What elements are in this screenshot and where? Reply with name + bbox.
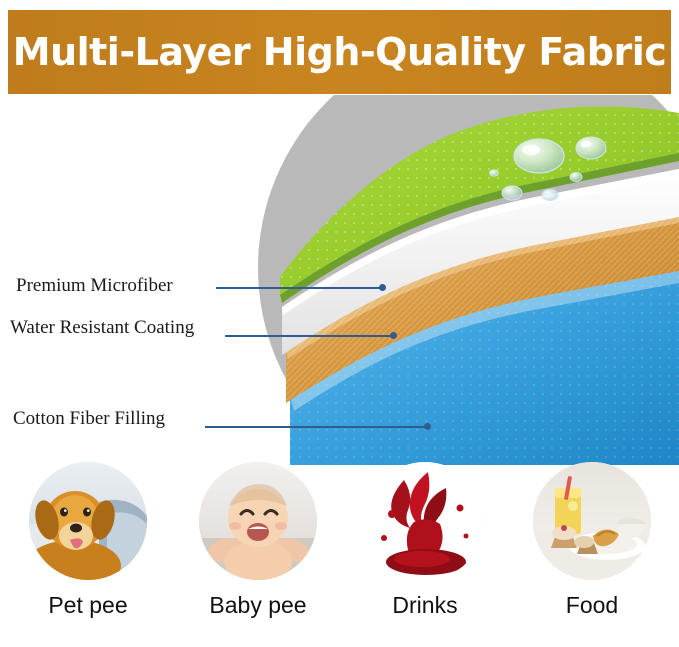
- fabric-stack-illustration: [280, 95, 679, 465]
- label-premium-microfiber: Premium Microfiber: [16, 275, 173, 297]
- wine-splash-photo-icon: [366, 462, 484, 580]
- label-water-resistant-coating: Water Resistant Coating: [10, 317, 194, 339]
- baby-photo-icon: [199, 462, 317, 580]
- leader-line-water-resistant-coating: [225, 335, 393, 337]
- use-case-row: Pet pee: [0, 462, 679, 647]
- dog-photo-icon: [29, 462, 147, 580]
- leader-line-premium-microfiber: [216, 287, 382, 289]
- use-case-baby-pee: Baby pee: [178, 462, 338, 619]
- label-cotton-fiber-filling: Cotton Fiber Filling: [13, 408, 165, 430]
- use-case-label-baby-pee: Baby pee: [178, 592, 338, 619]
- fabric-layers-diagram: Premium Microfiber Water Resistant Coati…: [0, 95, 679, 465]
- leader-dot-water-resistant-coating: [390, 332, 397, 339]
- use-case-pet-pee: Pet pee: [8, 462, 168, 619]
- use-case-label-drinks: Drinks: [345, 592, 505, 619]
- leader-dot-cotton-fiber-filling: [424, 423, 431, 430]
- use-case-drinks: Drinks: [345, 462, 505, 619]
- use-case-label-food: Food: [512, 592, 672, 619]
- leader-line-cotton-fiber-filling: [205, 426, 427, 428]
- use-case-food: Food: [512, 462, 672, 619]
- page-title: Multi-Layer High-Quality Fabric: [13, 30, 667, 74]
- use-case-label-pet-pee: Pet pee: [8, 592, 168, 619]
- food-table-photo-icon: [533, 462, 651, 580]
- leader-dot-premium-microfiber: [379, 284, 386, 291]
- header-banner: Multi-Layer High-Quality Fabric: [8, 10, 671, 94]
